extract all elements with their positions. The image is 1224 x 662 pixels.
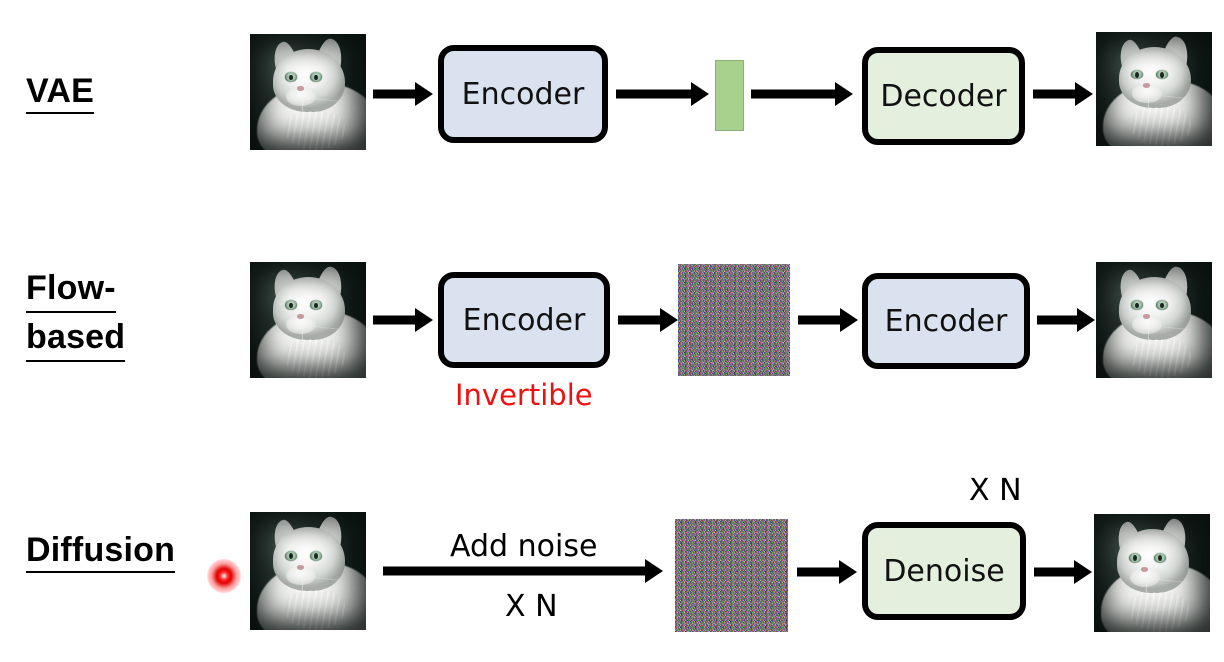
vae-encoder-node[interactable]: Encoder [438, 45, 608, 143]
vae-encoder-label: Encoder [462, 77, 585, 112]
flow-encoder-left-label: Encoder [463, 303, 586, 338]
row-label-flow-line2: based [26, 315, 125, 362]
laser-pointer-icon [207, 559, 241, 593]
diagram-canvas: VAE Encoder Decoder Flow- [0, 0, 1224, 662]
row-label-vae: VAE [26, 72, 94, 114]
vae-output-image [1096, 32, 1212, 146]
row-label-vae-line1: VAE [26, 72, 94, 114]
row-label-flow-based: Flow- based [26, 266, 125, 362]
flow-encoder-left-node[interactable]: Encoder [438, 272, 610, 368]
vae-input-image [250, 34, 366, 150]
diffusion-denoise-repeat-caption: X N [969, 473, 1022, 508]
flow-encoder-right-node[interactable]: Encoder [862, 273, 1030, 369]
vae-decoder-node[interactable]: Decoder [862, 47, 1025, 145]
row-label-diffusion: Diffusion [26, 531, 175, 573]
flow-noise-image [678, 264, 790, 376]
diffusion-output-image [1094, 514, 1210, 632]
diffusion-input-image [250, 512, 366, 630]
vae-decoder-label: Decoder [880, 79, 1006, 114]
row-label-flow-line1: Flow- [26, 266, 116, 313]
diffusion-denoise-node[interactable]: Denoise [862, 522, 1026, 620]
vae-latent-bar [715, 60, 744, 131]
flow-invertible-caption: Invertible [455, 378, 593, 412]
flow-encoder-right-label: Encoder [885, 304, 1008, 339]
diffusion-denoise-label: Denoise [883, 554, 1004, 589]
diffusion-noise-image [675, 519, 788, 632]
flow-input-image [250, 262, 366, 378]
diffusion-add-noise-caption: Add noise [450, 529, 597, 564]
row-label-diffusion-line1: Diffusion [26, 531, 175, 573]
flow-output-image [1096, 262, 1212, 378]
diffusion-add-noise-repeat-caption: X N [505, 589, 558, 624]
